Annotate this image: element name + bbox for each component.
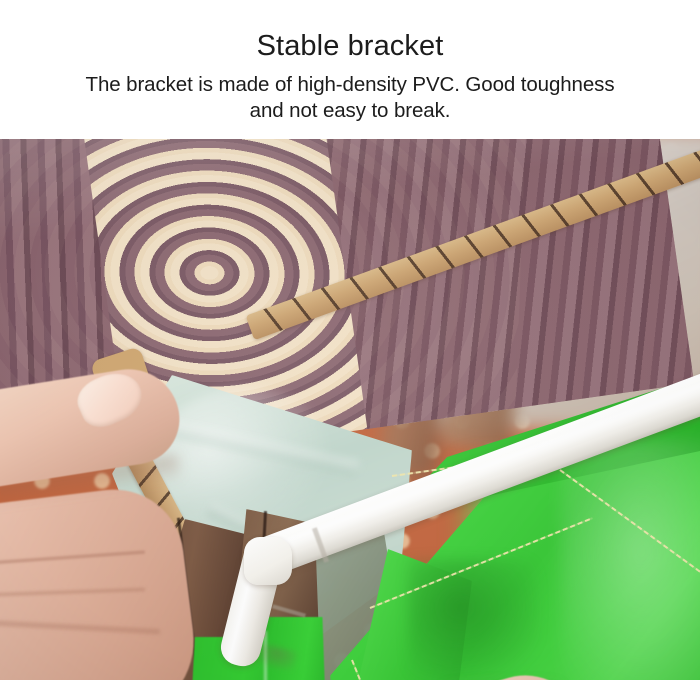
- green-fabric-highlight: [560, 439, 700, 680]
- photo-bottom-margin: [0, 680, 700, 700]
- green-fabric-shadow: [408, 559, 538, 679]
- page-subtitle-line-1: The bracket is made of high-density PVC.…: [86, 73, 615, 96]
- product-detail-page: Stable bracket The bracket is made of hi…: [0, 0, 700, 700]
- page-subtitle: The bracket is made of high-density PVC.…: [0, 63, 700, 124]
- product-photo: [0, 139, 700, 680]
- page-title: Stable bracket: [0, 0, 700, 63]
- header-text-block: Stable bracket The bracket is made of hi…: [0, 0, 700, 139]
- page-subtitle-line-2: and not easy to break.: [0, 98, 700, 124]
- pvc-bracket-corner-joint: [244, 537, 292, 585]
